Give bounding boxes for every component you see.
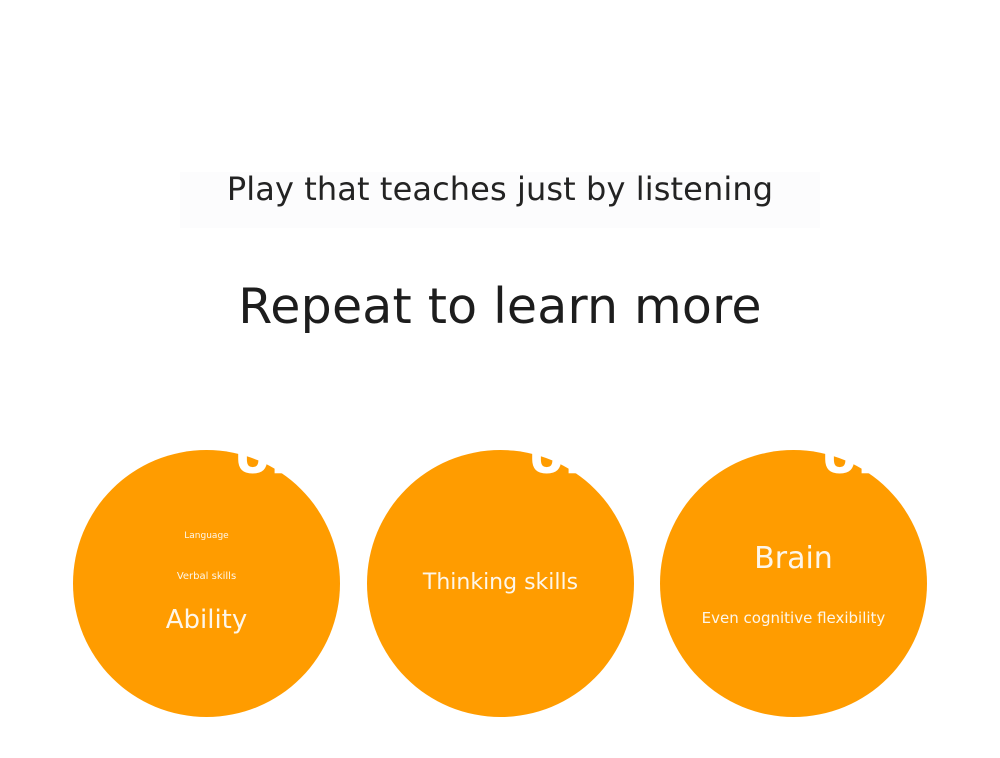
up-badge: UP! xyxy=(234,434,323,480)
slide-subtitle: Play that teaches just by listening xyxy=(0,170,1000,208)
bubble-label-language: Language xyxy=(184,531,228,542)
up-badge: UP! xyxy=(821,434,910,480)
benefit-bubble-thinking-skills[interactable]: Thinking skills UP! xyxy=(367,450,634,717)
bubble-label-verbal-skills: Verbal skills xyxy=(177,571,236,583)
bubble-content: Language Verbal skills Ability xyxy=(73,450,340,717)
up-badge: UP! xyxy=(528,434,617,480)
slide-heading: Repeat to learn more xyxy=(0,278,1000,335)
bubble-label-thinking-skills: Thinking skills xyxy=(423,570,578,596)
up-badge-label: UP! xyxy=(528,430,617,484)
bubble-content: Thinking skills xyxy=(367,450,634,717)
bubble-content: Brain Even cognitive flexibility xyxy=(660,450,927,717)
up-badge-label: UP! xyxy=(234,430,323,484)
benefit-bubble-brain[interactable]: Brain Even cognitive flexibility UP! xyxy=(660,450,927,717)
slide-canvas: Play that teaches just by listening Repe… xyxy=(0,0,1000,758)
benefit-bubble-group: Language Verbal skills Ability UP! Think… xyxy=(0,450,1000,730)
bubble-label-brain: Brain xyxy=(754,541,833,577)
up-badge-label: UP! xyxy=(821,430,910,484)
benefit-bubble-ability[interactable]: Language Verbal skills Ability UP! xyxy=(73,450,340,717)
bubble-label-ability: Ability xyxy=(166,605,248,636)
bubble-label-cognitive-flexibility: Even cognitive flexibility xyxy=(702,609,886,627)
